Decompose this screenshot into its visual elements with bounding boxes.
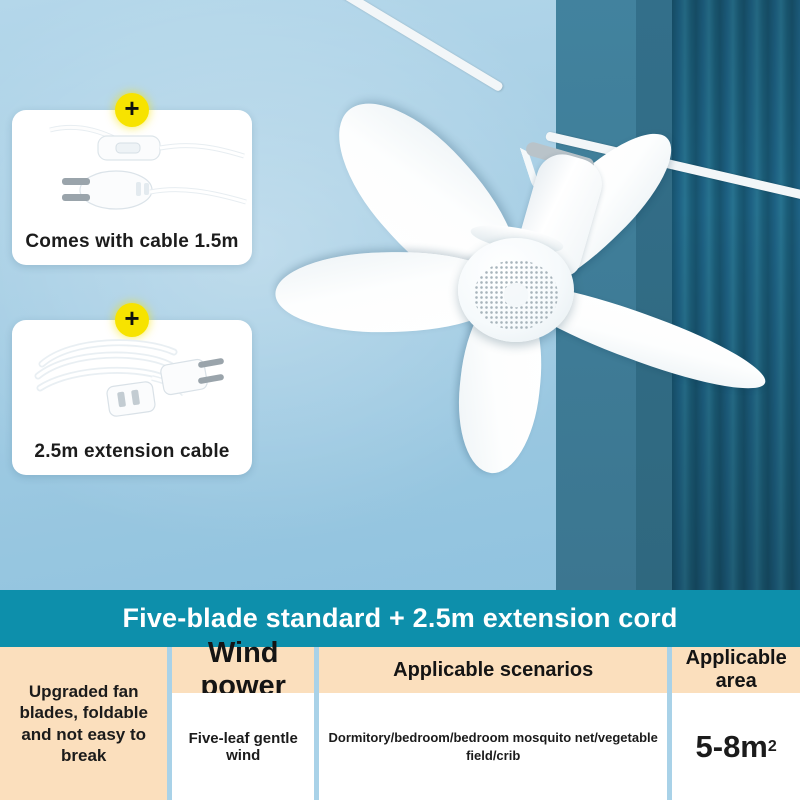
variant-title: Five-blade standard + 2.5m extension cor… bbox=[122, 603, 677, 634]
coiled-extension-cable-icon bbox=[12, 326, 252, 430]
curtain-shading bbox=[672, 0, 800, 590]
spec-column-wind-power: Wind power Five-leaf gentle wind bbox=[172, 647, 314, 800]
column-header: Wind power bbox=[172, 647, 314, 693]
accessory-card-extension: + 2.5m bbox=[12, 320, 252, 475]
product-listing-image: + Comes with cable 1.5m + bbox=[0, 0, 800, 800]
column-header: Applicable area bbox=[672, 647, 800, 693]
product-photo: + Comes with cable 1.5m + bbox=[0, 0, 800, 590]
column-value: 5-8m2 bbox=[672, 693, 800, 800]
spec-column-scenarios: Applicable scenarios Dormitory/bedroom/b… bbox=[319, 647, 667, 800]
wall-panel-dark bbox=[636, 0, 672, 590]
column-value: Five-leaf gentle wind bbox=[172, 693, 314, 800]
power-plug-with-switch-icon bbox=[12, 116, 252, 220]
area-superscript: 2 bbox=[768, 738, 777, 756]
area-value: 5-8m bbox=[696, 729, 768, 765]
column-value: Dormitory/bedroom/bedroom mosquito net/v… bbox=[319, 693, 667, 800]
spec-column-area: Applicable area 5-8m2 bbox=[672, 647, 800, 800]
accessory-card-cable: + Comes with cable 1.5m bbox=[12, 110, 252, 265]
grille-icon bbox=[474, 260, 558, 330]
spec-table: Upgraded fan blades, foldable and not ea… bbox=[0, 647, 800, 800]
variant-banner: Five-blade standard + 2.5m extension cor… bbox=[0, 590, 800, 647]
accessory-caption: 2.5m extension cable bbox=[12, 441, 252, 463]
feature-note-cell: Upgraded fan blades, foldable and not ea… bbox=[0, 647, 167, 800]
column-header: Applicable scenarios bbox=[319, 647, 667, 693]
fan-hub bbox=[458, 238, 574, 342]
accessory-caption: Comes with cable 1.5m bbox=[12, 231, 252, 253]
